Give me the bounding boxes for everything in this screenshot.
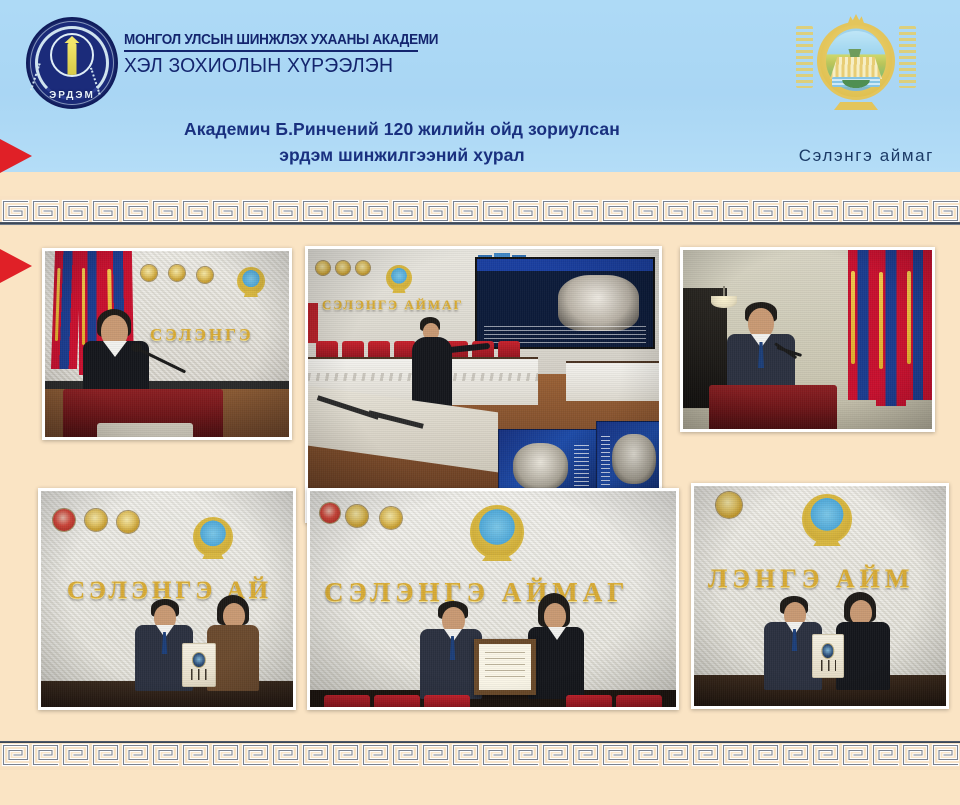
conference-poster: ЭРДЭМ МОНГОЛ УЛСЫН ШИНЖЛЭХ УХААНЫ АКАДЕМ…	[0, 0, 960, 805]
meander-pattern-top	[0, 196, 960, 226]
footer-spacer	[0, 770, 960, 805]
logo-soyombo-icon	[50, 33, 94, 77]
wall-text-photo-2: СЭЛЭНГЭ АЙМАГ	[322, 297, 464, 313]
gallery-photo-bottom-center[interactable]: СЭЛЭНГЭ АЙМАГ	[307, 488, 679, 710]
header-spacer	[0, 172, 960, 196]
gallery-photo-top-right[interactable]	[680, 247, 935, 432]
mongol-script-left-icon	[796, 26, 813, 88]
gallery-photo-bottom-left[interactable]: СЭЛЭНГЭ АЙ	[38, 488, 296, 710]
meander-svg-top	[0, 199, 960, 223]
organization-name-block: МОНГОЛ УЛСЫН ШИНЖЛЭХ УХААНЫ АКАДЕМИ ХЭЛ …	[124, 32, 462, 78]
aimag-label: Сэлэнгэ аймаг	[799, 146, 934, 166]
organization-line1: МОНГОЛ УЛСЫН ШИНЖЛЭХ УХААНЫ АКАДЕМИ	[124, 32, 438, 48]
gallery-photo-top-center[interactable]: СЭЛЭНГЭ АЙМАГ	[305, 246, 662, 523]
meander-rule-top	[0, 222, 960, 225]
mongol-script-right-icon	[899, 26, 916, 88]
emblem-base-icon	[834, 102, 878, 110]
title-line-2: эрдэм шинжилгээний хурал	[0, 142, 804, 168]
title-line-1: Академич Б.Ринчений 120 жилийн ойд зориу…	[184, 119, 620, 139]
red-arrow-marker-icon	[0, 249, 32, 283]
organization-divider	[124, 50, 418, 52]
logo-label: ЭРДЭМ	[26, 90, 118, 101]
wall-text-photo-6: ЛЭНГЭ АЙМ	[708, 564, 914, 594]
gallery-photo-bottom-right[interactable]: ЛЭНГЭ АЙМ	[691, 483, 949, 709]
academy-logo: ЭРДЭМ	[26, 17, 118, 109]
page-title: Академич Б.Ринчений 120 жилийн ойд зориу…	[0, 116, 804, 168]
meander-pattern-bottom	[0, 740, 960, 770]
organization-line2: ХЭЛ ЗОХИОЛЫН ХҮРЭЭЛЭН	[124, 55, 452, 78]
header-band: ЭРДЭМ МОНГОЛ УЛСЫН ШИНЖЛЭХ УХААНЫ АКАДЕМ…	[0, 0, 960, 172]
emblem-disc-icon	[817, 22, 895, 100]
wall-text-photo-5: СЭЛЭНГЭ АЙМАГ	[324, 577, 629, 608]
gallery-photo-top-left[interactable]: СЭЛЭНГЭ	[42, 248, 292, 440]
selenge-aimag-emblem-icon	[790, 12, 922, 108]
photo-gallery: СЭЛЭНГЭ	[0, 230, 960, 735]
red-arrow-marker-icon	[0, 139, 32, 173]
wall-text-photo-1: СЭЛЭНГЭ	[150, 325, 254, 345]
meander-svg-bottom	[0, 743, 960, 767]
